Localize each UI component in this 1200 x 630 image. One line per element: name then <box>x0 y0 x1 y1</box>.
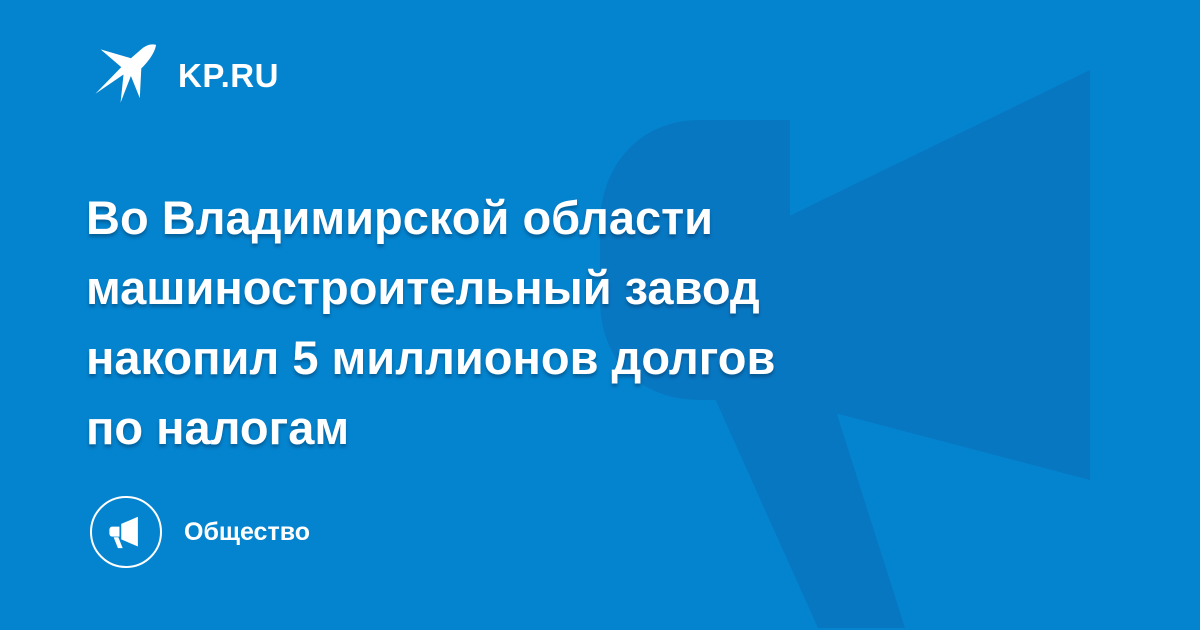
brand-name: KP.RU <box>178 59 279 92</box>
headline-line: Во Владимирской области <box>86 183 1006 253</box>
category-badge[interactable]: Общество <box>90 496 310 568</box>
headline-line: по налогам <box>86 393 1006 463</box>
headline-line: машиностроительный завод <box>86 253 1006 323</box>
headline-line: накопил 5 миллионов долгов <box>86 323 1006 393</box>
kp-ru-share-card: KP.RU Во Владимирской области машиностро… <box>0 0 1200 630</box>
category-label: Общество <box>184 520 310 545</box>
brand-header[interactable]: KP.RU <box>88 36 279 110</box>
swallow-bird-logo-icon <box>88 36 162 110</box>
page-title: Во Владимирской области машиностроительн… <box>86 183 1006 463</box>
megaphone-icon <box>90 496 162 568</box>
